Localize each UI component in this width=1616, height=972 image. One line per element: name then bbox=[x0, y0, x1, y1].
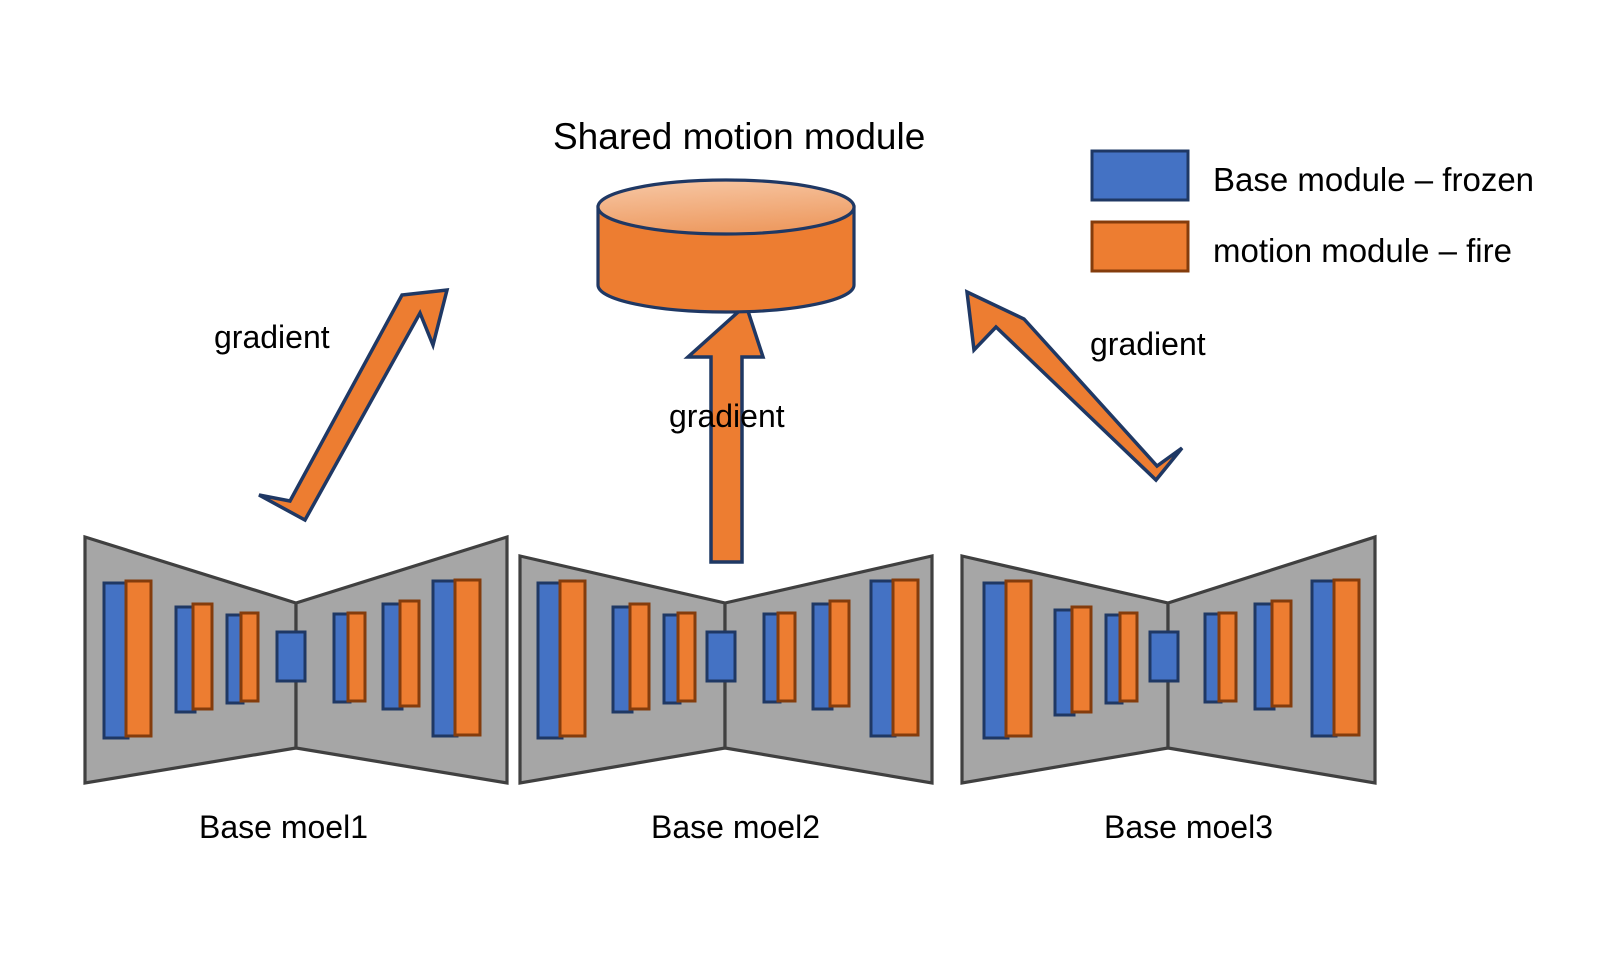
base-model-1-label: Base moel1 bbox=[199, 810, 368, 845]
model-2-layer-5-orange bbox=[778, 613, 795, 701]
model-2-bottleneck-blue bbox=[707, 632, 735, 681]
model-1-bottleneck-blue bbox=[277, 632, 305, 681]
model-2-layer-2-orange bbox=[630, 604, 649, 709]
shared-motion-module-cylinder[interactable] bbox=[598, 180, 854, 312]
model-3-layer-3-orange bbox=[1120, 613, 1137, 701]
model-3-layer-1-orange bbox=[1006, 581, 1031, 736]
base-model-2[interactable] bbox=[520, 556, 932, 783]
base-model-3-label: Base moel3 bbox=[1104, 810, 1273, 845]
legend-swatch-motion-module-fire bbox=[1092, 222, 1188, 271]
model-3-layer-6-orange bbox=[1272, 601, 1291, 706]
cylinder-top bbox=[598, 180, 854, 234]
model-2-layer-6-orange bbox=[830, 601, 849, 706]
model-2-layer-1-blue bbox=[538, 583, 562, 738]
model-2-layer-3-orange bbox=[678, 613, 695, 701]
model-3-layer-7-orange bbox=[1334, 580, 1359, 735]
legend-label-motion-module-fire: motion module – fire bbox=[1213, 233, 1512, 269]
model-3-layer-7-blue bbox=[1312, 581, 1336, 736]
model-1-layer-5-orange bbox=[348, 613, 365, 701]
model-3-layer-5-orange bbox=[1219, 613, 1236, 701]
model-2-layer-1-orange bbox=[560, 581, 585, 736]
gradient-label-right: gradient bbox=[1090, 327, 1206, 362]
legend-swatch-base-module-frozen bbox=[1092, 151, 1188, 200]
gradient-label-center: gradient bbox=[669, 399, 785, 434]
diagram-canvas: Shared motion module gradient gradient g… bbox=[0, 0, 1616, 972]
model-2-layer-7-orange bbox=[893, 580, 918, 735]
gradient-label-left: gradient bbox=[214, 320, 330, 355]
model-1-layer-1-orange bbox=[126, 581, 151, 736]
model-1-layer-7-orange bbox=[455, 580, 480, 735]
model-3-layer-1-blue bbox=[984, 583, 1008, 738]
model-1-layer-1-blue bbox=[104, 583, 128, 738]
gradient-arrow-right[interactable] bbox=[967, 292, 1182, 480]
model-3-layer-2-orange bbox=[1072, 607, 1091, 712]
base-model-1[interactable] bbox=[85, 537, 507, 783]
base-model-2-label: Base moel2 bbox=[651, 810, 820, 845]
model-1-layer-2-orange bbox=[193, 604, 212, 709]
model-1-layer-7-blue bbox=[433, 581, 457, 736]
page-title: Shared motion module bbox=[553, 117, 925, 158]
base-model-3[interactable] bbox=[962, 537, 1375, 783]
model-1-layer-6-orange bbox=[400, 601, 419, 706]
model-1-layer-3-orange bbox=[241, 613, 258, 701]
model-2-layer-7-blue bbox=[871, 581, 895, 736]
model-3-bottleneck-blue bbox=[1150, 632, 1178, 681]
legend-label-base-module-frozen: Base module – frozen bbox=[1213, 162, 1534, 198]
